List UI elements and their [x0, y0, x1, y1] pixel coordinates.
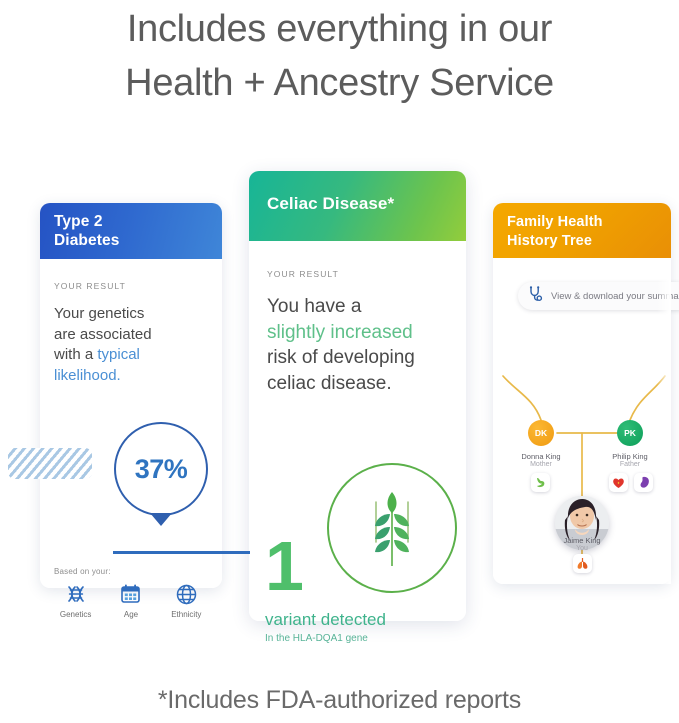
celiac-accent-phrase: slightly increased [267, 320, 448, 346]
variant-gene-label: In the HLA-DQA1 gene [265, 633, 368, 644]
wheat-icon-circle [327, 463, 457, 593]
card-right-fade [657, 258, 671, 584]
variant-detected-label: variant detected [265, 610, 386, 630]
celiac-result-text: You have a slightly increased risk of de… [267, 294, 448, 396]
card-body-celiac: YOUR RESULT You have a slightly increase… [249, 241, 466, 621]
father-name: Philip King [595, 452, 665, 461]
headline-line-1: Includes everything in our [127, 8, 552, 50]
footnote: *Includes FDA-authorized reports [0, 686, 679, 715]
card-body-family: View & download your summary DK Donna Ki… [493, 258, 671, 584]
condition-chip-heart[interactable] [609, 473, 628, 492]
card-header-family: Family Health History Tree [493, 203, 671, 258]
condition-chip-lungs[interactable] [573, 554, 592, 573]
result-accent-word: typical [97, 346, 140, 363]
percent-value: 37% [135, 454, 188, 485]
result-line-3-prefix: with a [54, 346, 97, 363]
family-tree: DK Donna King Mother PK Philip King Fath… [493, 258, 671, 584]
globe-icon [159, 581, 213, 607]
mother-name: Donna King [506, 452, 576, 461]
result-line-4: likelihood. [54, 366, 208, 387]
percent-bubble-pointer [150, 513, 172, 526]
diabetes-result-text: Your genetics are associated with a typi… [54, 304, 208, 386]
card-title-line-1: Type 2 [54, 212, 208, 231]
factor-ethnicity-label: Ethnicity [159, 610, 213, 619]
page-title: Includes everything in our Health + Ance… [0, 0, 679, 110]
stomach-icon [534, 476, 547, 489]
variant-count: 1 [265, 531, 302, 601]
promo-graphic: Includes everything in our Health + Ance… [0, 0, 679, 723]
wheat-icon [359, 486, 425, 570]
celiac-line-1: You have a [267, 294, 448, 320]
celiac-line-3: celiac disease. [267, 371, 448, 397]
calendar-icon [104, 581, 158, 607]
factor-genetics-label: Genetics [49, 610, 103, 619]
father-initials: PK [624, 428, 636, 438]
divider-line [113, 551, 250, 554]
card-celiac-disease[interactable]: Celiac Disease* YOUR RESULT You have a s… [249, 171, 466, 621]
family-node-mother[interactable]: DK [528, 420, 554, 446]
card-title-line-1: Family Health [507, 213, 657, 232]
card-title-celiac: Celiac Disease* [267, 193, 448, 214]
card-header-diabetes: Type 2 Diabetes [40, 203, 222, 259]
mother-initials: DK [535, 428, 547, 438]
family-node-father[interactable]: PK [617, 420, 643, 446]
celiac-line-2: risk of developing [267, 345, 448, 371]
your-result-label: YOUR RESULT [267, 269, 448, 279]
factor-age-label: Age [104, 610, 158, 619]
percent-bubble: 37% [114, 422, 208, 516]
lungs-icon [576, 557, 589, 570]
condition-chip-stomach[interactable] [531, 473, 550, 492]
stripe-decoration [8, 448, 92, 479]
dna-icon [49, 581, 103, 607]
heart-icon [612, 477, 625, 489]
headline-line-2: Health + Ancestry Service [0, 56, 679, 110]
factor-icon-row: Genetics [48, 581, 214, 619]
result-line-1: Your genetics [54, 304, 208, 325]
mother-relation: Mother [506, 461, 576, 468]
card-type-2-diabetes[interactable]: Type 2 Diabetes YOUR RESULT Your genetic… [40, 203, 222, 588]
you-relation: You [547, 545, 617, 552]
card-header-celiac: Celiac Disease* [249, 171, 466, 241]
based-on-label: Based on your: [54, 567, 111, 576]
condition-chip-kidney[interactable] [634, 473, 653, 492]
result-line-2: are associated [54, 325, 208, 346]
you-name: Jaime King [547, 536, 617, 545]
card-title-line-2: History Tree [507, 232, 657, 251]
kidney-icon [638, 476, 650, 489]
father-relation: Father [595, 461, 665, 468]
card-family-health-history-tree[interactable]: Family Health History Tree View & [493, 203, 671, 584]
factor-ethnicity[interactable]: Ethnicity [159, 581, 213, 619]
your-result-label: YOUR RESULT [54, 281, 208, 291]
factor-genetics[interactable]: Genetics [49, 581, 103, 619]
result-line-3: with a typical [54, 345, 208, 366]
card-body-diabetes: YOUR RESULT Your genetics are associated… [40, 259, 222, 588]
factor-age[interactable]: Age [104, 581, 158, 619]
card-title-line-2: Diabetes [54, 231, 208, 250]
